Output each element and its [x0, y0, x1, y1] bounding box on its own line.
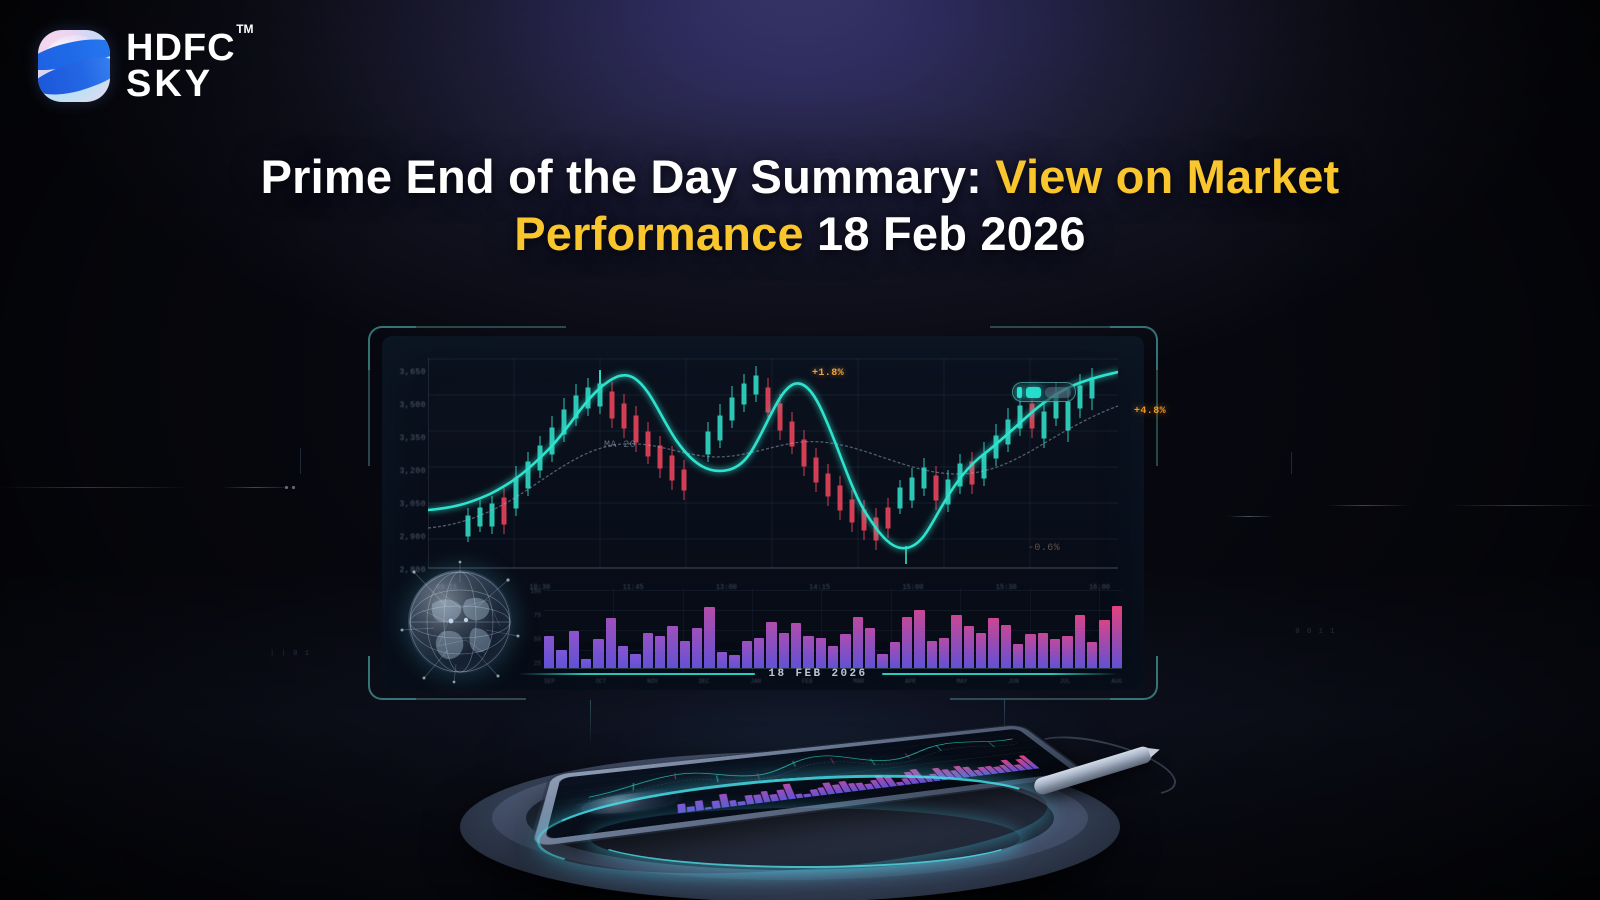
toggle-active-segment-icon — [1026, 387, 1041, 398]
bar-chart-bar — [865, 628, 875, 668]
annotation-moving-avg: MA 20 — [604, 440, 636, 451]
bar-chart-bar — [704, 607, 714, 668]
bar-chart-bar — [951, 615, 961, 668]
bar-chart-bar — [692, 628, 702, 668]
bar-chart-bar — [1112, 606, 1122, 668]
hero-hud-panel: 3,650 3,500 3,350 3,200 3,050 2,900 2,80… — [368, 326, 1158, 700]
bar-chart-bar — [606, 618, 616, 668]
globe-meridians — [408, 570, 512, 674]
bar-chart-bar — [1075, 615, 1085, 668]
bar-chart-bar — [754, 638, 764, 668]
bar-chart-bar — [1087, 642, 1097, 668]
date-divider: 18 FEB 2026 — [518, 666, 1118, 682]
brand-wordmark: HDFC SKY TM — [126, 30, 236, 102]
bar-chart-bar — [890, 642, 900, 668]
brand-wordmark-line1: HDFC — [126, 30, 236, 66]
bar-chart-bar — [680, 641, 690, 668]
bar-chart-bar — [544, 636, 554, 668]
bar-chart-bar — [569, 631, 579, 668]
y-tick: 3,650 — [384, 368, 426, 377]
trademark-symbol: TM — [236, 24, 253, 35]
bar-chart-bar — [988, 618, 998, 668]
bar-chart-bar — [643, 633, 653, 668]
annotation-right-edge: +4.8% — [1134, 406, 1166, 417]
line-chart: 3,650 3,500 3,350 3,200 3,050 2,900 2,80… — [428, 358, 1118, 576]
hud-edge-left — [368, 370, 370, 466]
toggle-indicator-dot-icon — [1017, 387, 1022, 398]
bar-chart-bar — [803, 636, 813, 668]
hud-edge-top-left — [416, 326, 566, 328]
y-tick: 3,500 — [384, 401, 426, 410]
bar-chart-bar — [1025, 634, 1035, 668]
bar-chart-bar — [816, 638, 826, 668]
title-segment-1: Prime End of the Day Summary: — [261, 150, 996, 203]
hud-corner-top-left-icon — [368, 326, 416, 370]
y-tick: 3,350 — [384, 434, 426, 443]
tablet-on-charging-stand — [440, 690, 1160, 900]
bar-chart-bar — [914, 610, 924, 668]
wireframe-globe-network-icon — [394, 558, 524, 688]
bar-chart-bar — [1013, 644, 1023, 668]
bar-chart-bar — [766, 622, 776, 668]
bar-chart-bar — [791, 623, 801, 668]
date-rule-right — [882, 673, 1119, 675]
bar-chart-bar — [964, 626, 974, 668]
hero-date-label: 18 FEB 2026 — [769, 668, 868, 680]
bar-chart: 100 75 50 25 SEP OCT NOV DEC JAN FEB MAR… — [544, 588, 1122, 674]
bar-chart-bars — [544, 588, 1122, 668]
poster-canvas: | | 0 1 0 0 1 1 · · · HDFC SKY TM Prime … — [0, 0, 1600, 900]
bar-y-tick: 75 — [524, 612, 541, 619]
y-tick: 3,200 — [384, 467, 426, 476]
hud-edge-right — [1156, 370, 1158, 466]
bar-chart-bar — [1001, 625, 1011, 668]
y-tick: 2,900 — [384, 533, 426, 542]
bar-chart-bar — [618, 646, 628, 668]
y-tick: 3,050 — [384, 500, 426, 509]
bar-chart-bar — [939, 638, 949, 668]
bar-chart-bar — [1038, 633, 1048, 668]
bar-chart-bar — [1062, 636, 1072, 668]
stand-glow-ring-lower — [590, 808, 1020, 868]
chart-view-toggle[interactable] — [1012, 382, 1076, 402]
date-rule-left — [518, 673, 755, 675]
bar-chart-bar — [667, 626, 677, 668]
brand-logo[interactable]: HDFC SKY TM — [38, 30, 236, 102]
bar-chart-bar — [779, 633, 789, 668]
annotation-peak: +1.8% — [812, 368, 844, 379]
page-title: Prime End of the Day Summary: View on Ma… — [0, 148, 1600, 263]
bar-chart-bar — [853, 617, 863, 668]
bar-chart-bar — [927, 641, 937, 668]
bar-chart-bar — [1050, 639, 1060, 668]
brand-wordmark-line2: SKY — [126, 66, 236, 102]
bar-chart-bar — [655, 636, 665, 668]
bar-chart-bar — [828, 646, 838, 668]
bar-y-tick: 50 — [524, 636, 541, 643]
bar-chart-bar — [742, 641, 752, 668]
annotation-lower: -0.6% — [1028, 543, 1060, 554]
hdfc-sky-swoosh-logo-icon — [38, 30, 110, 102]
title-segment-2: 18 Feb 2026 — [804, 207, 1086, 260]
bar-chart-bar — [1099, 620, 1109, 668]
hud-edge-top-right — [990, 326, 1110, 328]
bar-y-tick: 100 — [524, 588, 541, 595]
bar-chart-bar — [840, 634, 850, 668]
globe-sphere — [408, 570, 512, 674]
bar-chart-bar — [976, 633, 986, 668]
bar-chart-bar — [902, 617, 912, 668]
bar-chart-bar — [593, 639, 603, 668]
toggle-track-icon — [1045, 387, 1071, 398]
